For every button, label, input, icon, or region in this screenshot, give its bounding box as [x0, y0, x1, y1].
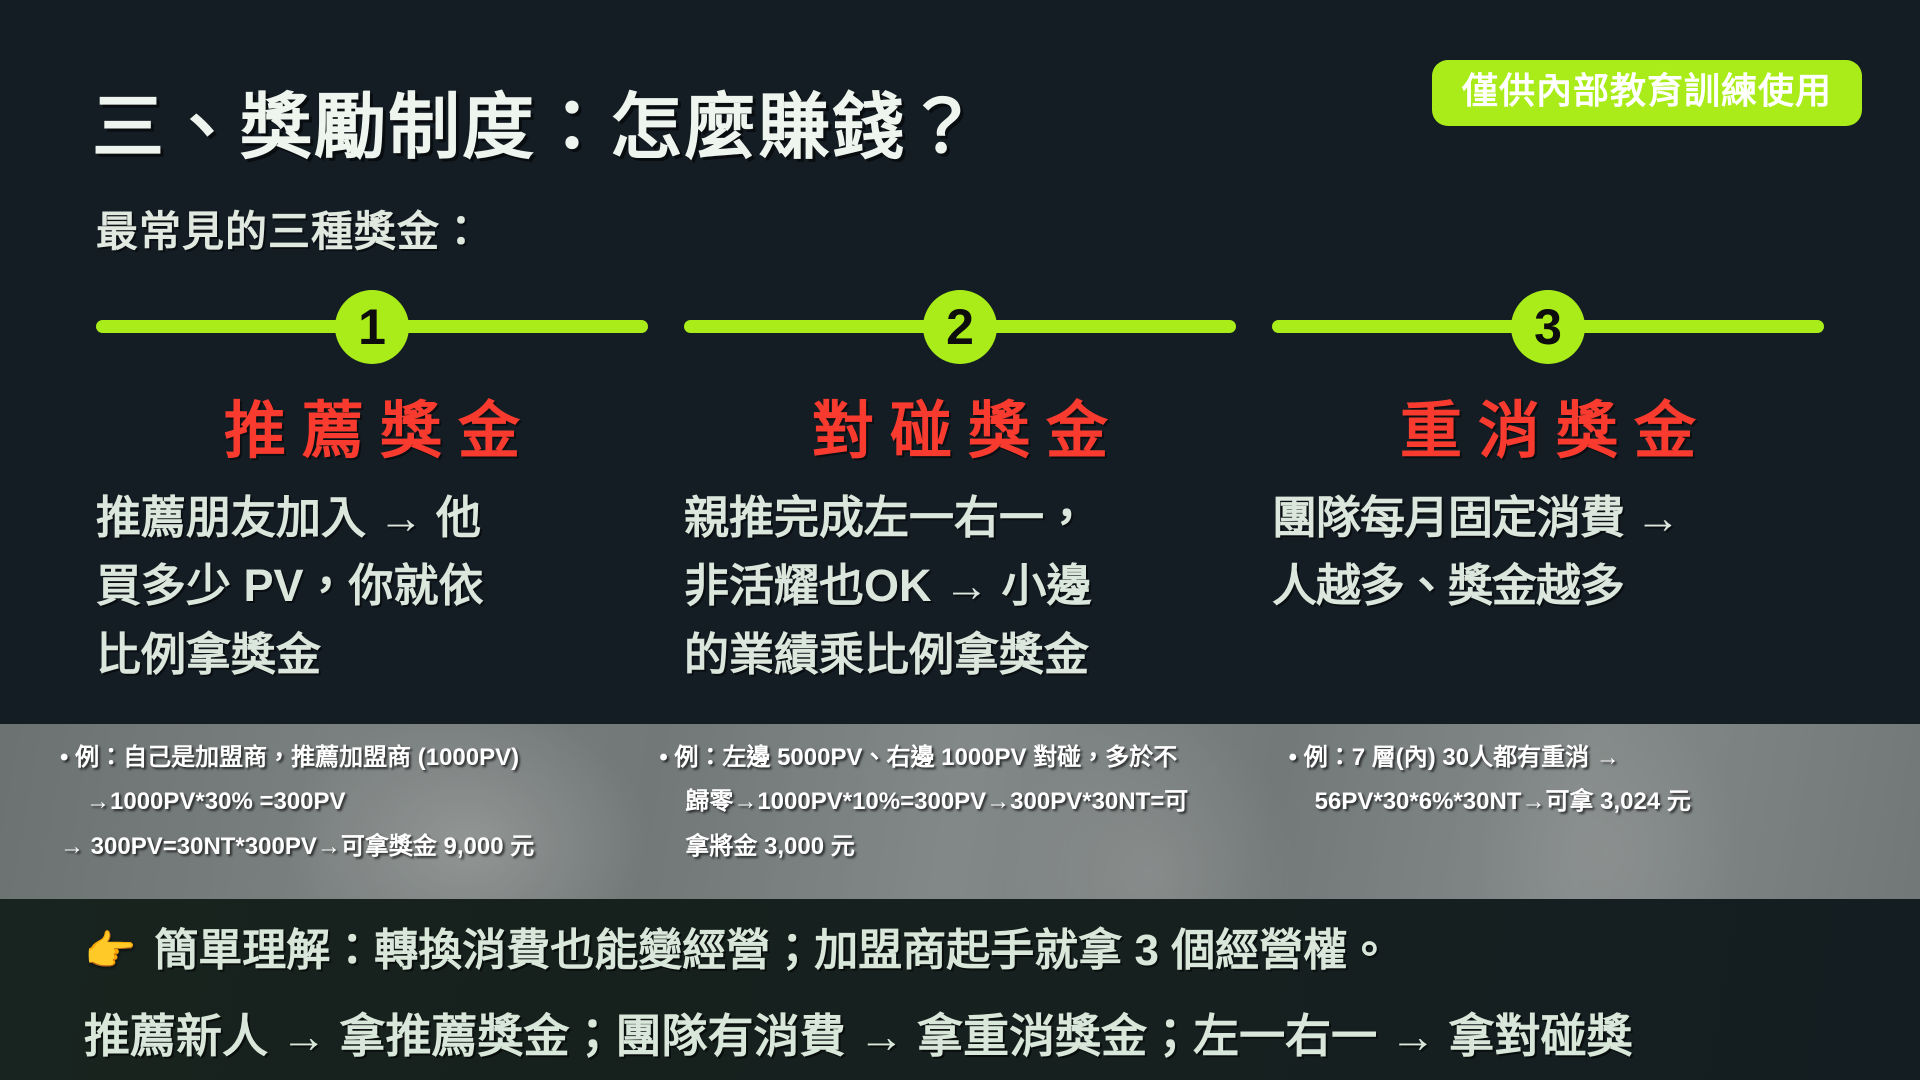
example-line: 歸零→1000PV*10%=300PV→300PV*30NT=可	[659, 780, 1230, 824]
column-1-body-line: 推薦朋友加入 → 他	[96, 492, 481, 543]
example-line: • 例：左邊 5000PV、右邊 1000PV 對碰，多於不	[659, 736, 1230, 780]
example-line: • 例：7 層(內) 30人都有重消 →	[1289, 736, 1860, 780]
section-subtitle: 最常見的三種獎金：	[96, 198, 483, 259]
page-title: 三、獎勵制度：怎麼賺錢？	[92, 68, 980, 173]
column-2-body-line: 親推完成左一右一，	[684, 492, 1089, 543]
pointing-right-hand-icon: 👉	[84, 930, 136, 972]
example-column-1: • 例：自己是加盟商，推薦加盟商 (1000PV) →1000PV*30% =3…	[60, 736, 631, 899]
step-number-badge-2: 2	[923, 290, 997, 364]
footer-summary-line-1: 👉 簡單理解：轉換消費也能變經營；加盟商起手就拿 3 個經營權。	[84, 923, 1836, 978]
column-2-body-line: 非活耀也OK → 小邊	[684, 560, 1092, 611]
column-1-body-line: 比例拿獎金	[96, 629, 321, 680]
column-3-rule: 3	[1272, 290, 1824, 364]
step-number-badge-1: 1	[335, 290, 409, 364]
step-number-badge-3: 3	[1511, 290, 1585, 364]
example-line: 拿將金 3,000 元	[659, 825, 1230, 869]
bonus-columns: 1 推薦獎金 推薦朋友加入 → 他 買多少 PV，你就依 比例拿獎金 2 對碰獎…	[0, 290, 1920, 689]
column-1-body: 推薦朋友加入 → 他 買多少 PV，你就依 比例拿獎金	[96, 484, 648, 689]
example-column-2: • 例：左邊 5000PV、右邊 1000PV 對碰，多於不 歸零→1000PV…	[649, 736, 1230, 899]
column-2-body-line: 的業績乘比例拿獎金	[684, 629, 1089, 680]
example-line: →1000PV*30% =300PV	[60, 780, 631, 824]
bonus-column-2: 2 對碰獎金 親推完成左一右一， 非活耀也OK → 小邊 的業績乘比例拿獎金	[684, 290, 1236, 689]
example-line: → 300PV=30NT*300PV→可拿獎金 9,000 元	[60, 825, 631, 869]
column-2-heading: 對碰獎金	[684, 380, 1236, 470]
column-3-body: 團隊每月固定消費 → 人越多、獎金越多	[1272, 484, 1824, 621]
column-2-body: 親推完成左一右一， 非活耀也OK → 小邊 的業績乘比例拿獎金	[684, 484, 1236, 689]
bonus-column-1: 1 推薦獎金 推薦朋友加入 → 他 買多少 PV，你就依 比例拿獎金	[96, 290, 648, 689]
example-list: • 例：自己是加盟商，推薦加盟商 (1000PV) →1000PV*30% =3…	[0, 724, 1920, 899]
example-line: • 例：自己是加盟商，推薦加盟商 (1000PV)	[60, 736, 631, 780]
column-1-rule: 1	[96, 290, 648, 364]
column-1-body-line: 買多少 PV，你就依	[96, 560, 484, 611]
slide-header: 三、獎勵制度：怎麼賺錢？ 僅供內部教育訓練使用	[0, 40, 1920, 150]
column-3-body-line: 人越多、獎金越多	[1272, 560, 1624, 611]
internal-use-badge: 僅供內部教育訓練使用	[1432, 60, 1862, 126]
bonus-column-3: 3 重消獎金 團隊每月固定消費 → 人越多、獎金越多	[1272, 290, 1824, 689]
column-2-rule: 2	[684, 290, 1236, 364]
footer-summary-text-1: 簡單理解：轉換消費也能變經營；加盟商起手就拿 3 個經營權。	[154, 923, 1391, 978]
footer-summary-line-2: 推薦新人 → 拿推薦獎金；團隊有消費 → 拿重消獎金；左一右一 → 拿對碰獎	[84, 1000, 1836, 1066]
example-column-3: • 例：7 層(內) 30人都有重消 → 56PV*30*6%*30NT→可拿 …	[1249, 736, 1860, 899]
example-line: 56PV*30*6%*30NT→可拿 3,024 元	[1289, 780, 1860, 824]
column-3-heading: 重消獎金	[1272, 380, 1824, 470]
example-photo-band: • 例：自己是加盟商，推薦加盟商 (1000PV) →1000PV*30% =3…	[0, 724, 1920, 899]
column-3-body-line: 團隊每月固定消費 →	[1272, 492, 1680, 543]
slide-root: 三、獎勵制度：怎麼賺錢？ 僅供內部教育訓練使用 最常見的三種獎金： 1 推薦獎金…	[0, 0, 1920, 1080]
slide-footer: 👉 簡單理解：轉換消費也能變經營；加盟商起手就拿 3 個經營權。 推薦新人 → …	[0, 899, 1920, 1080]
column-1-heading: 推薦獎金	[96, 380, 648, 470]
